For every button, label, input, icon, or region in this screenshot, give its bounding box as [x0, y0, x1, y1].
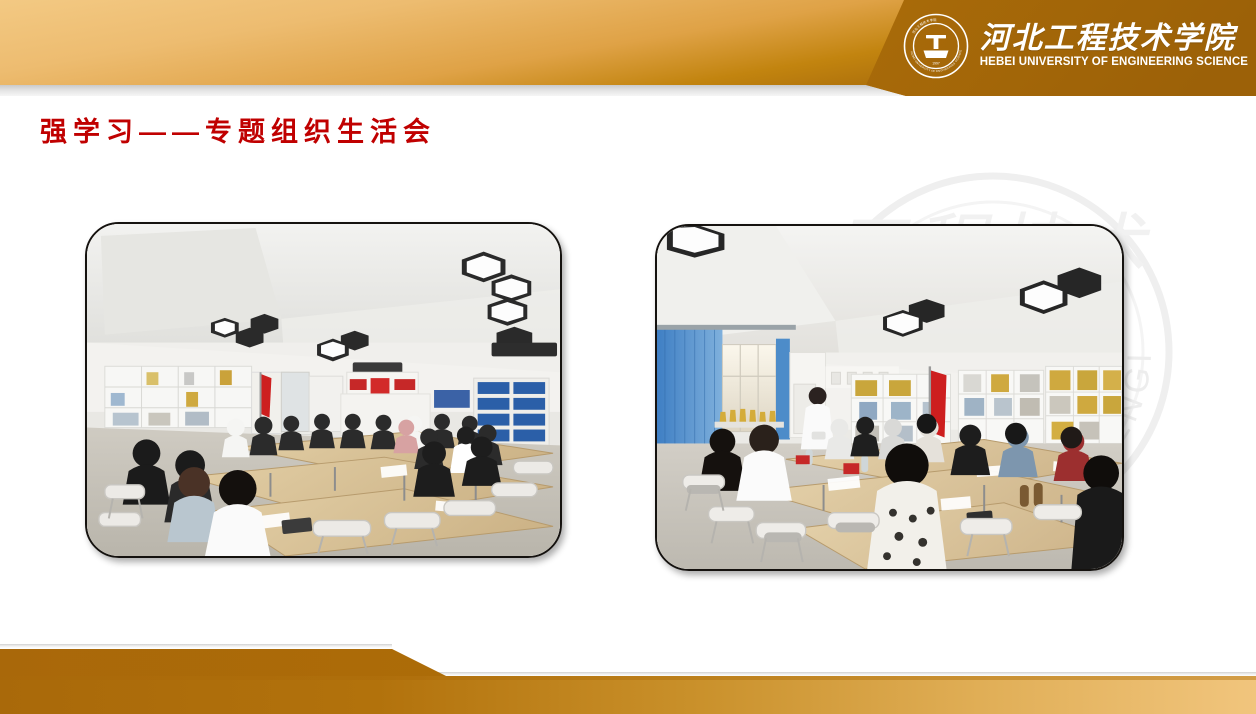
photo-left-artwork [87, 224, 560, 556]
university-seal-icon: 河北工程技术学院 HEBEI UNIVERSITY OF ENGINEERING… [902, 12, 970, 80]
footer-decoration [0, 624, 1256, 714]
presentation-slide: 河北工程技术学院 HEBEI UNIVERSITY OF ENGINEERING… [0, 0, 1256, 714]
meeting-photo-right [655, 224, 1124, 571]
meeting-photo-left [85, 222, 562, 558]
svg-text:河北工程技术学院: 河北工程技术学院 [910, 17, 937, 35]
page-title: 强学习——专题组织生活会 [40, 110, 436, 149]
photo-right-artwork [657, 226, 1122, 569]
svg-text:1997: 1997 [932, 62, 940, 66]
university-name-block: 河北工程技术学院 HEBEI UNIVERSITY OF ENGINEERING… [980, 23, 1248, 68]
university-logo: 河北工程技术学院 HEBEI UNIVERSITY OF ENGINEERING… [902, 10, 1248, 82]
university-name-cn: 河北工程技术学院 [980, 23, 1248, 55]
university-name-en: HEBEI UNIVERSITY OF ENGINEERING SCIENCE [980, 56, 1248, 69]
